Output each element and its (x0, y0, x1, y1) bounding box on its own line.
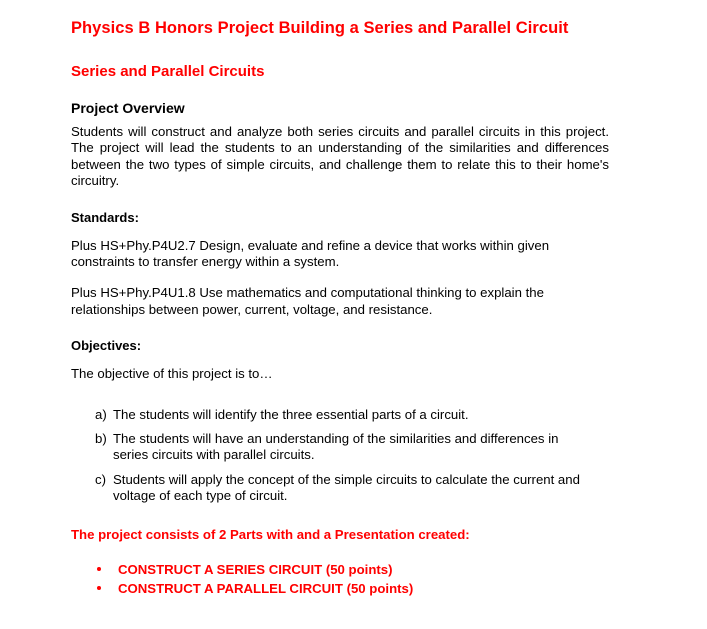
list-item-marker: c) (95, 472, 106, 488)
list-item-text: The students will have an understanding … (113, 431, 558, 462)
objectives-intro: The objective of this project is to… (71, 366, 609, 382)
list-item-marker: a) (95, 407, 107, 423)
project-parts-callout: The project consists of 2 Parts with and… (71, 527, 609, 543)
standard-item-1: Plus HS+Phy.P4U2.7 Design, evaluate and … (71, 238, 609, 271)
bullet-icon (97, 567, 101, 571)
standard-item-2: Plus HS+Phy.P4U1.8 Use mathematics and c… (71, 285, 609, 318)
objectives-label: Objectives: (71, 338, 609, 354)
list-item: a) The students will identify the three … (71, 407, 591, 423)
document-title: Physics B Honors Project Building a Seri… (71, 18, 603, 38)
project-overview-paragraph: Students will construct and analyze both… (71, 124, 609, 190)
list-item: CONSTRUCT A SERIES CIRCUIT (50 points) (71, 560, 609, 579)
list-item-text: The students will identify the three ess… (113, 407, 469, 422)
list-item-text: CONSTRUCT A PARALLEL CIRCUIT (50 points) (118, 581, 413, 596)
section-heading-series-parallel-circuits: Series and Parallel Circuits (71, 63, 609, 81)
list-item: b) The students will have an understandi… (71, 431, 591, 464)
list-item-text: Students will apply the concept of the s… (113, 472, 580, 503)
list-item-text: CONSTRUCT A SERIES CIRCUIT (50 points) (118, 562, 393, 577)
list-item: CONSTRUCT A PARALLEL CIRCUIT (50 points) (71, 579, 609, 598)
standards-label: Standards: (71, 210, 609, 226)
project-overview-heading: Project Overview (71, 100, 609, 117)
document-page: Physics B Honors Project Building a Seri… (0, 0, 707, 629)
list-item: c) Students will apply the concept of th… (71, 472, 591, 505)
bullet-icon (97, 586, 101, 590)
project-parts-list: CONSTRUCT A SERIES CIRCUIT (50 points) C… (71, 560, 609, 598)
list-item-marker: b) (95, 431, 107, 447)
objectives-list: a) The students will identify the three … (71, 407, 591, 505)
